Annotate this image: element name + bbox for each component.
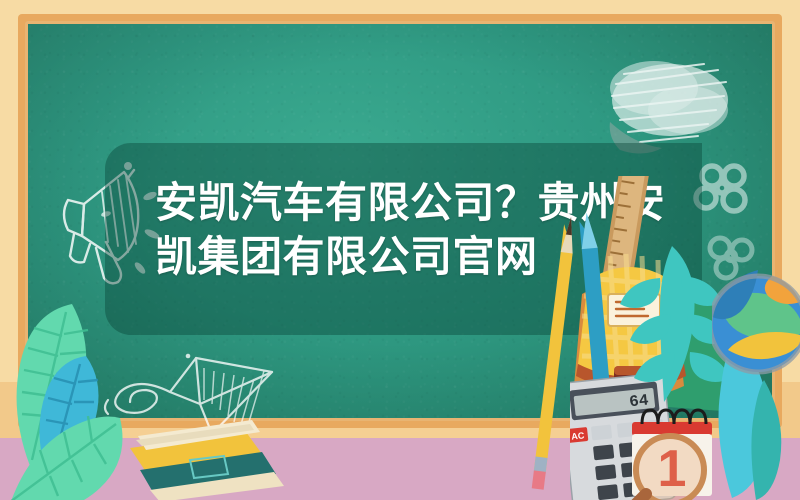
- world-globe-icon: [712, 258, 800, 390]
- svg-text:AC: AC: [571, 430, 585, 441]
- chalkboard-banner: 安凯汽车有限公司？贵州安 凯集团有限公司官网 安凯汽车有限公司？贵州安凯集团有限…: [0, 0, 800, 500]
- stacked-books-left: [128, 392, 378, 500]
